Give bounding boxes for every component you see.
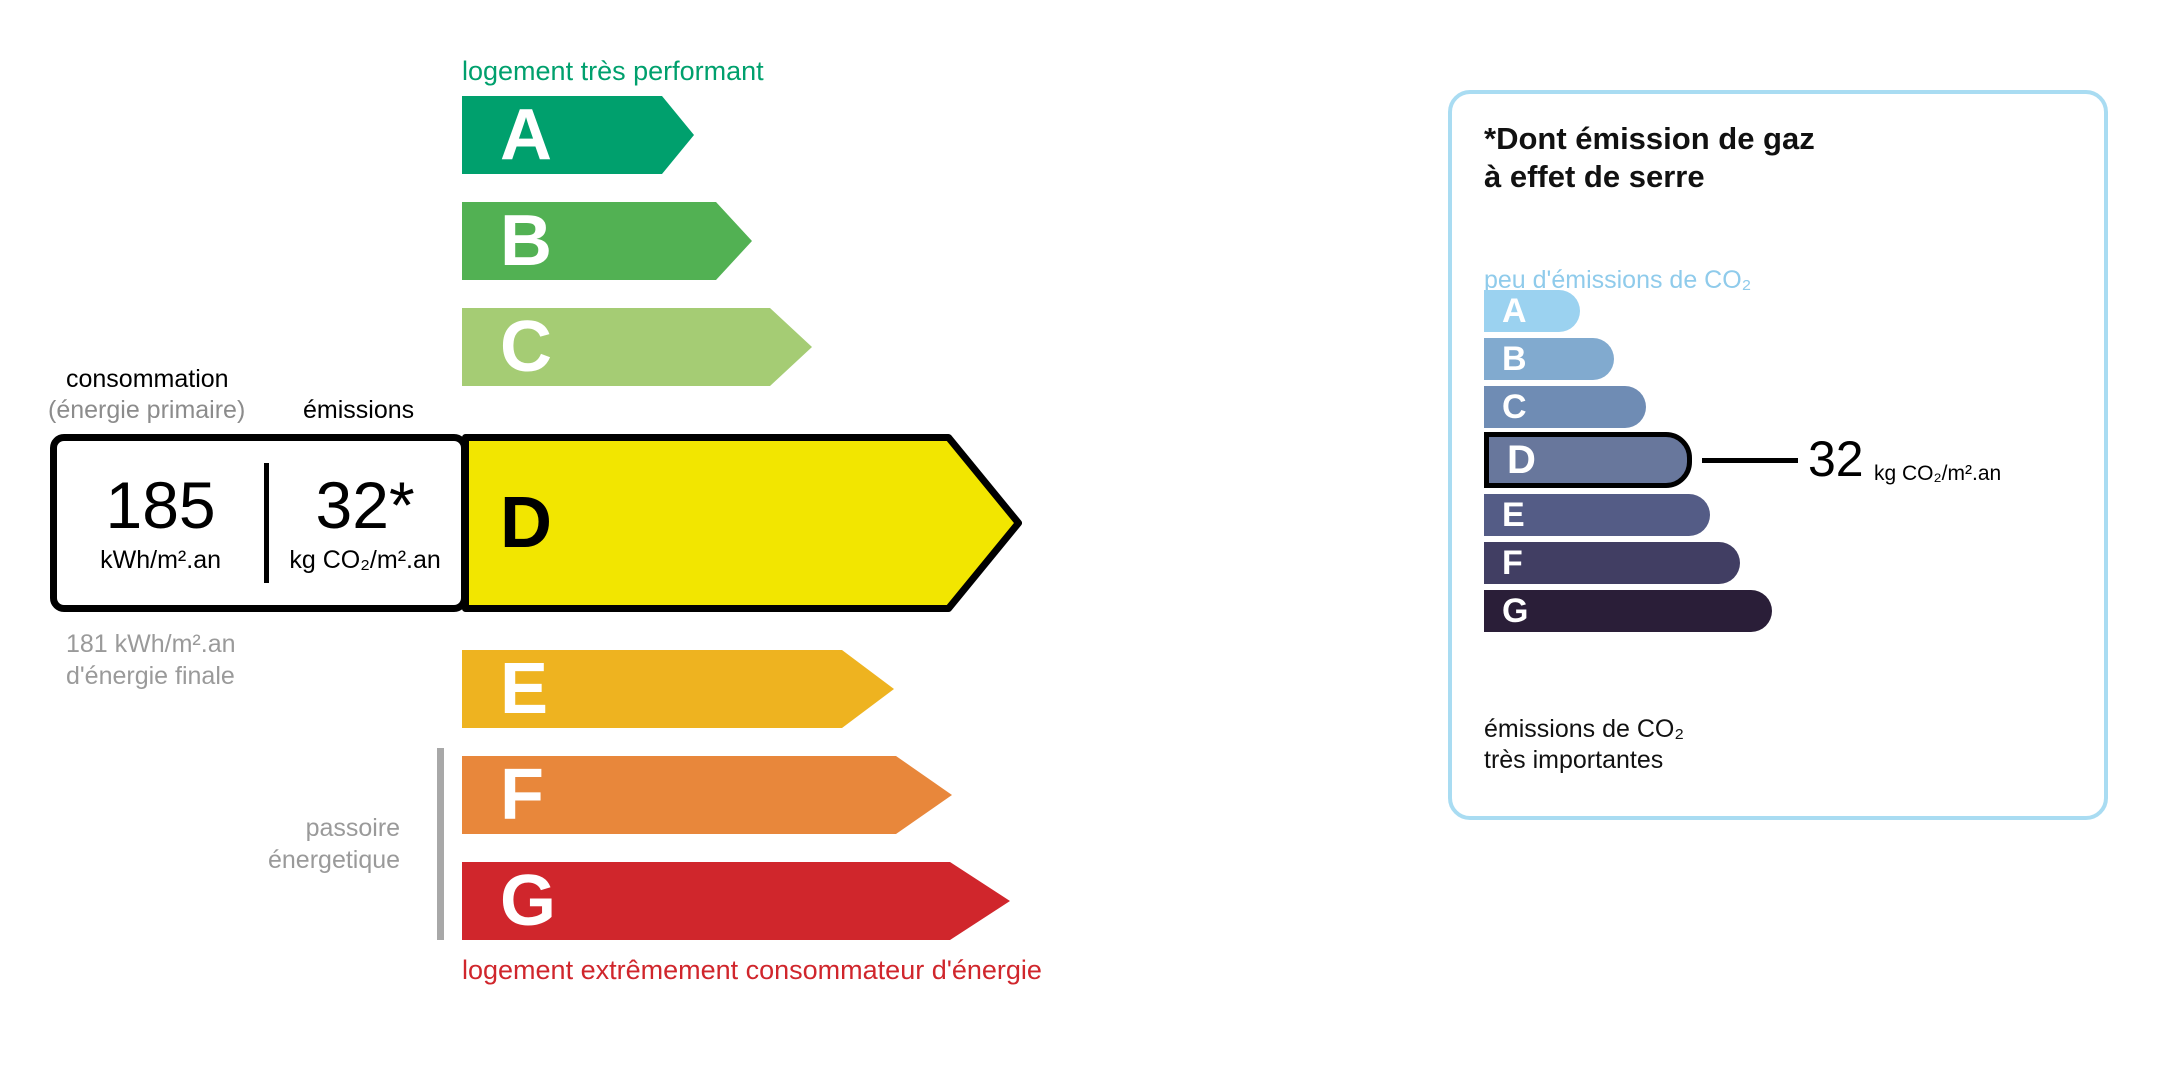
final-energy-line1: 181 kWh/m².an (66, 628, 236, 660)
co2-bottom-label: émissions de CO₂ très importantes (1484, 714, 1684, 776)
co2-bar-letter: B (1502, 342, 1527, 376)
co2-bar-letter: C (1502, 390, 1527, 424)
consumption-unit: kWh/m².an (100, 546, 221, 575)
passoire-line1: passoire (268, 812, 400, 844)
energy-scale: logement très performant ABCDEFG logemen… (0, 0, 1400, 1079)
energy-top-label: logement très performant (462, 56, 764, 87)
co2-bar-b: B (1484, 338, 1614, 380)
energy-band-d: D (462, 434, 1022, 612)
co2-bar-a: A (1484, 290, 1580, 332)
energy-band-letter: D (500, 487, 552, 559)
co2-bar-d: D (1484, 432, 1692, 488)
energy-band-g: G (462, 862, 1010, 940)
co2-panel-title: *Dont émission de gaz à effet de serre (1484, 120, 1815, 197)
energy-band-letter: A (500, 99, 552, 171)
energy-band-e: E (462, 650, 894, 728)
energy-band-f: F (462, 756, 952, 834)
co2-panel: *Dont émission de gaz à effet de serre p… (1448, 90, 2108, 820)
co2-bar-e: E (1484, 494, 1710, 536)
co2-bar-c: C (1484, 386, 1646, 428)
dpe-diagram: logement très performant ABCDEFG logemen… (0, 0, 2169, 1079)
energy-band-letter: B (500, 205, 552, 277)
co2-bar-letter: A (1502, 294, 1527, 328)
energy-band-letter: F (500, 759, 544, 831)
energy-bottom-label: logement extrêmement consommateur d'éner… (462, 955, 1042, 986)
label-consumption: consommation (66, 365, 229, 394)
co2-title-line2: à effet de serre (1484, 158, 1815, 196)
energy-band-letter: E (500, 653, 548, 725)
passoire-note: passoire énergetique (268, 812, 400, 876)
value-box: 185 kWh/m².an 32* kg CO₂/m².an (50, 434, 468, 612)
emissions-value: 32* (316, 472, 415, 538)
co2-bar-letter: G (1502, 594, 1528, 628)
passoire-bracket (437, 748, 444, 940)
consumption-cell: 185 kWh/m².an (57, 441, 264, 605)
label-emissions: émissions (303, 396, 414, 425)
co2-bar-letter: F (1502, 546, 1523, 580)
passoire-line2: énergetique (268, 844, 400, 876)
final-energy-note: 181 kWh/m².an d'énergie finale (66, 628, 236, 692)
energy-band-letter: C (500, 311, 552, 383)
co2-value-unit: kg CO₂/m².an (1874, 462, 2001, 486)
co2-leader-line (1702, 458, 1798, 463)
co2-title-line1: *Dont émission de gaz (1484, 120, 1815, 158)
emissions-unit: kg CO₂/m².an (289, 546, 440, 575)
consumption-value: 185 (106, 472, 216, 538)
co2-bar-letter: E (1502, 498, 1525, 532)
co2-bottom-line2: très importantes (1484, 745, 1684, 776)
energy-band-letter: G (500, 865, 556, 937)
label-consumption-sub: (énergie primaire) (48, 396, 245, 425)
energy-band-a: A (462, 96, 694, 174)
co2-value: 32 (1808, 434, 1864, 484)
co2-bar-f: F (1484, 542, 1740, 584)
energy-band-c: C (462, 308, 812, 386)
final-energy-line2: d'énergie finale (66, 660, 236, 692)
co2-bar-g: G (1484, 590, 1772, 632)
energy-band-b: B (462, 202, 752, 280)
co2-bar-letter: D (1507, 440, 1536, 480)
emissions-cell: 32* kg CO₂/m².an (269, 441, 461, 605)
co2-bottom-line1: émissions de CO₂ (1484, 714, 1684, 745)
